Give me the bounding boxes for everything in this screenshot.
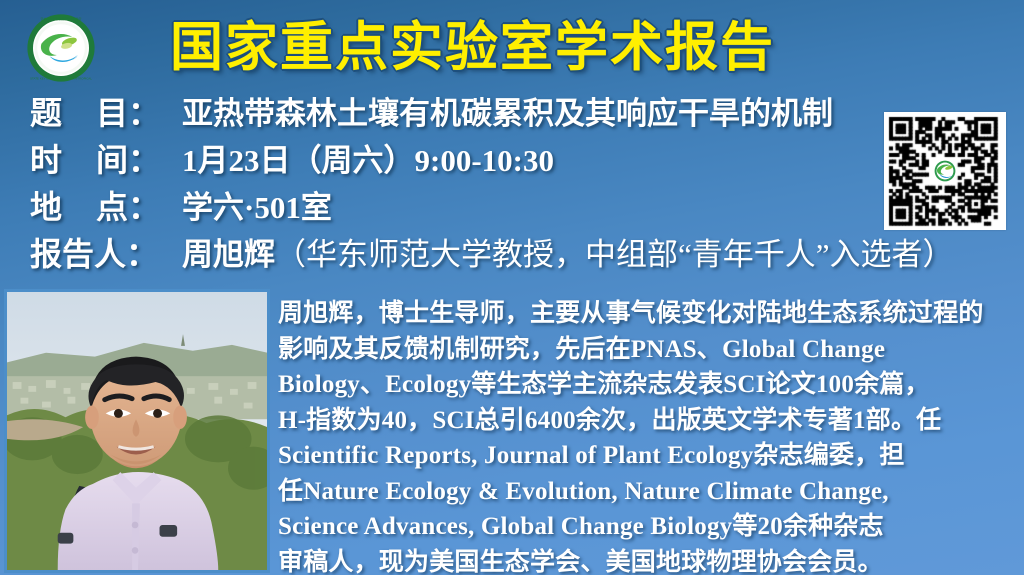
label-speaker: 报告人： xyxy=(30,229,182,275)
svg-text:STATE KEY LABORATORY OF SUBTRO: STATE KEY LABORATORY OF SUBTROPICAL xyxy=(30,77,92,81)
bio-line: Science Advances, Global Change Biology等… xyxy=(278,509,1014,545)
label-location: 地点： xyxy=(30,182,182,228)
info-row-speaker: 报告人： 周旭辉 （华东师范大学教授，中组部“青年千人”入选者） xyxy=(0,229,1024,276)
value-location: 学六·501室 xyxy=(182,182,332,227)
label-topic: 题目： xyxy=(30,88,182,134)
svg-text:亚热带农业生态国家重点实验室: 亚热带农业生态国家重点实验室 xyxy=(41,16,82,21)
bio-line: H-指数为40，SCI总引6400余次，出版英文学术专著1部。任 xyxy=(278,403,1014,439)
info-row-location: 地点： 学六·501室 xyxy=(0,182,1024,229)
value-speaker-name: 周旭辉 xyxy=(182,229,275,274)
qr-center-logo-icon xyxy=(932,158,958,184)
bio-line: 影响及其反馈机制研究，先后在PNAS、Global Change xyxy=(278,332,1014,368)
label-time: 时间： xyxy=(30,135,182,181)
bio-line: 审稿人，现为美国生态学会、美国地球物理协会会员。 xyxy=(278,545,1014,575)
info-row-topic: 题目： 亚热带森林土壤有机碳累积及其响应干旱的机制 xyxy=(0,88,1024,135)
qr-code[interactable] xyxy=(884,112,1006,230)
seminar-poster: 亚热带农业生态国家重点实验室 STATE KEY LABORATORY OF S… xyxy=(0,0,1024,575)
speaker-bio: 周旭辉，博士生导师，主要从事气候变化对陆地生态系统过程的 影响及其反馈机制研究，… xyxy=(278,296,1014,575)
state-key-laboratory-emblem-icon: 亚热带农业生态国家重点实验室 STATE KEY LABORATORY OF S… xyxy=(26,13,96,83)
bio-line: 任Nature Ecology & Evolution, Nature Clim… xyxy=(278,474,1014,510)
page-title: 国家重点实验室学术报告 xyxy=(170,14,870,82)
bio-line: Biology、Ecology等生态学主流杂志发表SCI论文100余篇， xyxy=(278,367,1014,403)
bio-line: 周旭辉，博士生导师，主要从事气候变化对陆地生态系统过程的 xyxy=(278,296,1014,332)
bio-line: Scientific Reports, Journal of Plant Eco… xyxy=(278,438,1014,474)
info-row-time: 时间： 1月23日（周六）9:00-10:30 xyxy=(0,135,1024,182)
seminar-info-block: 题目： 亚热带森林土壤有机碳累积及其响应干旱的机制 时间： 1月23日（周六）9… xyxy=(0,88,1024,276)
speaker-photo xyxy=(4,289,270,573)
value-speaker-affiliation: （华东师范大学教授，中组部“青年千人”入选者） xyxy=(275,229,954,274)
value-topic: 亚热带森林土壤有机碳累积及其响应干旱的机制 xyxy=(182,88,833,133)
value-time: 1月23日（周六）9:00-10:30 xyxy=(182,135,554,180)
poster-header: 亚热带农业生态国家重点实验室 STATE KEY LABORATORY OF S… xyxy=(0,0,1024,88)
